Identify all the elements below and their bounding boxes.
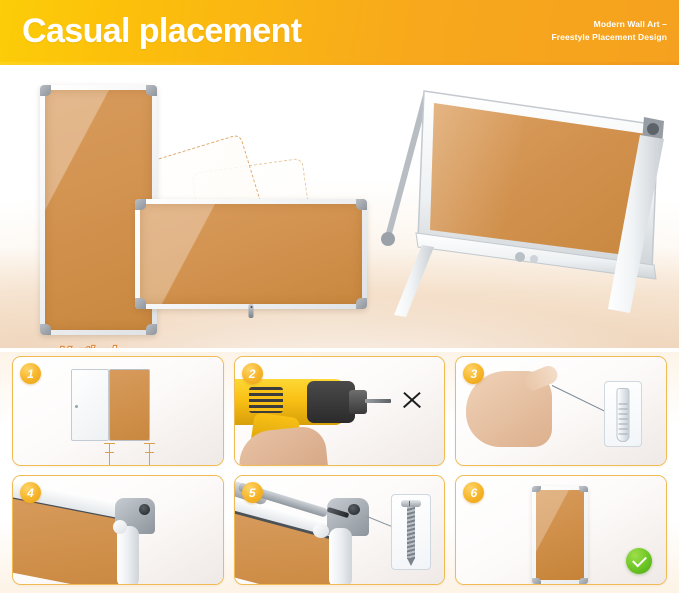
corner-bracket (532, 578, 541, 584)
page-header: Casual placement Modern Wall Art – Frees… (0, 0, 679, 62)
drill-mark-icon (149, 443, 150, 466)
header-subtitle-line2: Freestyle Placement Design (551, 31, 667, 44)
cork-panel (109, 369, 150, 441)
corner-bracket (135, 199, 146, 210)
label-vertical: Vertical (60, 344, 116, 348)
step-4-illustration (13, 476, 223, 584)
product-board-horizontal (135, 199, 367, 309)
green-check-icon (626, 548, 652, 574)
drill-target-x-icon (401, 389, 423, 411)
wall-anchor-icon (617, 388, 630, 442)
step-badge-1: 1 (20, 363, 41, 384)
corner-bracket (579, 578, 588, 584)
header-subtitle: Modern Wall Art – Freestyle Placement De… (551, 18, 679, 44)
screw-head (401, 500, 421, 507)
drill-vent (249, 387, 283, 413)
step-badge-2: 2 (242, 363, 263, 384)
step-badge-5: 5 (242, 482, 263, 503)
screw-callout-box (391, 494, 431, 570)
drill-mark-icon (109, 443, 110, 466)
page-title: Casual placement (0, 14, 302, 48)
step-card-finished-mounted-board[interactable]: 6 (455, 475, 667, 585)
corner-bracket (579, 486, 588, 492)
lock-icon (249, 304, 254, 318)
corner-bracket (146, 324, 157, 335)
step-6-illustration (456, 476, 666, 584)
drill-motor-housing (307, 381, 355, 423)
product-board-tilted (372, 73, 672, 333)
step-5-illustration (235, 476, 445, 584)
installation-steps-grid: 1 2 3 (0, 352, 679, 593)
screw-shank (407, 507, 415, 559)
step-card-insert-wall-anchor[interactable]: 3 (455, 356, 667, 466)
frame-post (329, 528, 352, 585)
hand-holding-drill (236, 425, 330, 466)
drill-chuck (349, 390, 367, 414)
corner-bracket (40, 85, 51, 96)
screw-point (407, 558, 415, 566)
anchor-callout-box (604, 381, 642, 447)
corner-bracket (356, 298, 367, 309)
frame-post (117, 526, 139, 585)
whiteboard-panel (71, 369, 109, 441)
hinge-knob (313, 524, 329, 538)
corner-bracket (356, 199, 367, 210)
hero-product-section: Vertical Horizontal (0, 65, 679, 348)
step-badge-4: 4 (20, 482, 41, 503)
step-card-drill-holes[interactable]: 2 (234, 356, 446, 466)
step-1-illustration (13, 357, 223, 465)
screw-icon (405, 500, 417, 566)
cork-surface-horizontal (140, 204, 362, 304)
drill-bit (365, 399, 391, 403)
cork-surface (536, 490, 584, 580)
step-card-fasten-screw[interactable]: 5 (234, 475, 446, 585)
step-card-mark-drill-points[interactable]: 1 (12, 356, 224, 466)
step-2-illustration (235, 357, 445, 465)
step-card-align-board-corner[interactable]: 4 (12, 475, 224, 585)
mounting-hole-icon (348, 504, 360, 515)
step-3-illustration (456, 357, 666, 465)
hinge-knob (113, 520, 127, 534)
mounting-hole-icon (139, 504, 150, 515)
corner-bracket (146, 85, 157, 96)
header-subtitle-line1: Modern Wall Art – (551, 18, 667, 31)
corner-bracket (135, 298, 146, 309)
corner-bracket (40, 324, 51, 335)
mounted-board (532, 486, 588, 584)
